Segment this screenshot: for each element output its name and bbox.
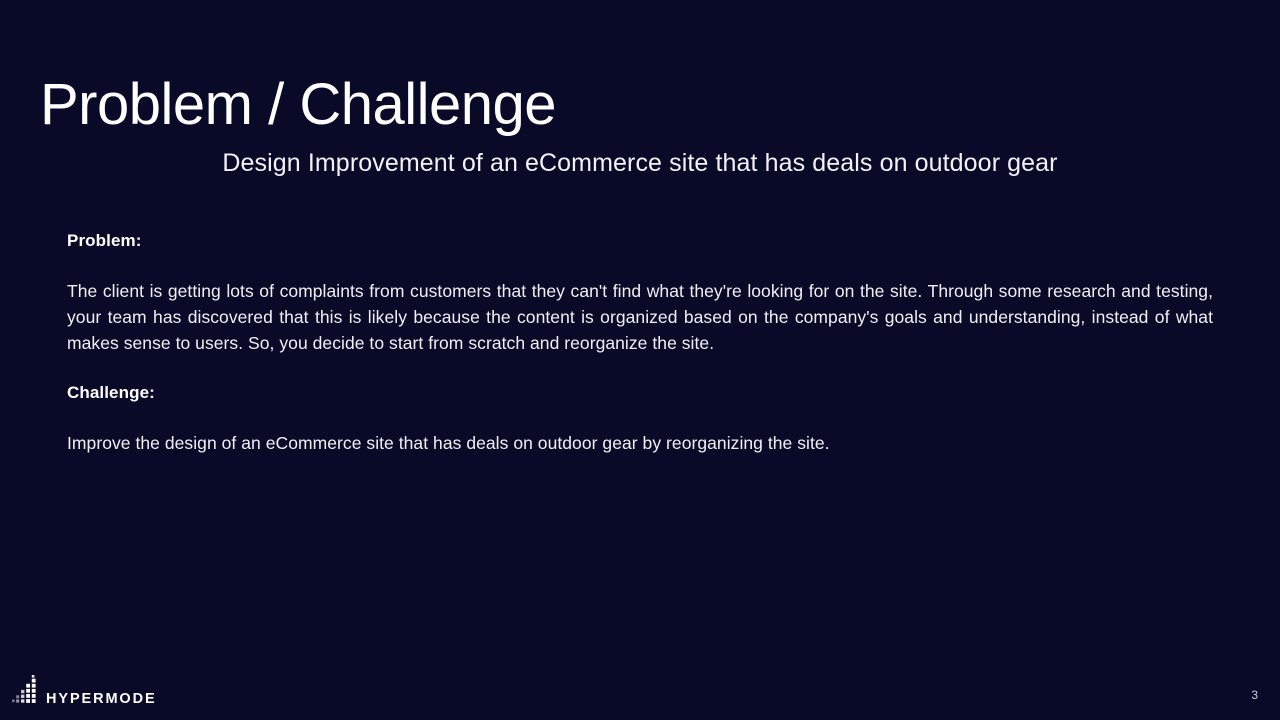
challenge-paragraph: Improve the design of an eCommerce site … — [67, 430, 1213, 456]
slide-canvas: Problem / Challenge Design Improvement o… — [0, 0, 1280, 720]
brand-logo: HYPERMODE — [12, 675, 157, 708]
problem-heading: Problem: — [67, 231, 1213, 251]
page-number: 3 — [1251, 688, 1258, 702]
challenge-heading: Challenge: — [67, 383, 1213, 403]
page-title: Problem / Challenge — [40, 75, 556, 136]
body-content: Problem: The client is getting lots of c… — [67, 231, 1213, 456]
spacer — [67, 251, 1213, 278]
spacer — [67, 403, 1213, 430]
spacer — [67, 357, 1213, 383]
problem-paragraph: The client is getting lots of complaints… — [67, 278, 1213, 357]
slide-subtitle: Design Improvement of an eCommerce site … — [0, 149, 1280, 178]
hypermode-dot-matrix-icon — [12, 675, 38, 708]
logo-wordmark: HYPERMODE — [46, 692, 157, 709]
